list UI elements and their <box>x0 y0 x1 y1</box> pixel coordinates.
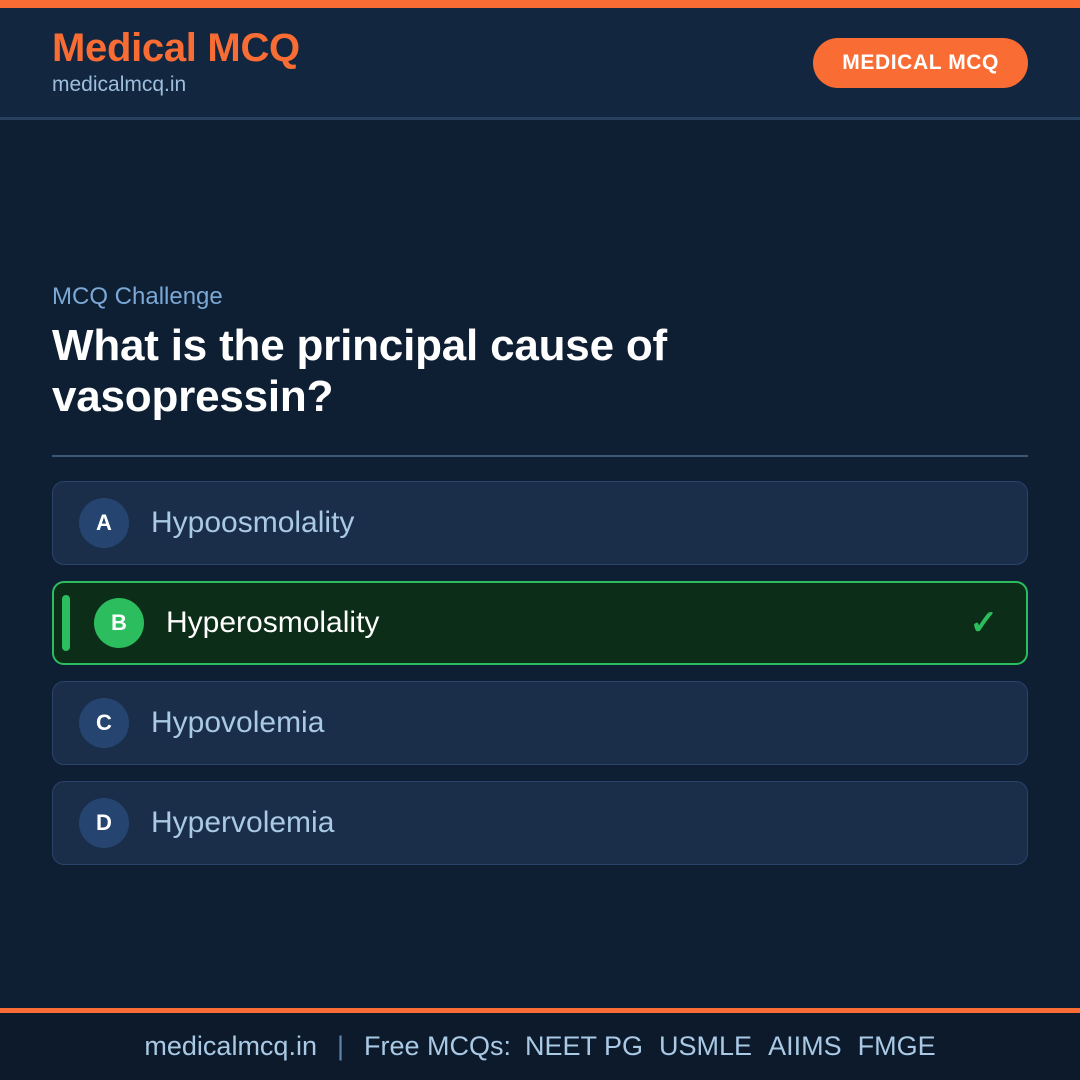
option-letter-badge-c: C <box>79 698 129 748</box>
option-row-a[interactable]: A Hypoosmolality <box>52 481 1028 565</box>
brand-title: Medical MCQ <box>52 27 300 70</box>
question-kicker: MCQ Challenge <box>52 283 1028 312</box>
header-badge: MEDICAL MCQ <box>813 38 1028 88</box>
main-content: MCQ Challenge What is the principal caus… <box>0 120 1080 1008</box>
header: Medical MCQ medicalmcq.in MEDICAL MCQ <box>0 8 1080 120</box>
option-letter-badge-b: B <box>94 598 144 648</box>
options-list: A Hypoosmolality B Hyperosmolality ✓ C H… <box>52 481 1028 865</box>
brand-subtitle: medicalmcq.in <box>52 72 300 98</box>
question-text: What is the principal cause of vasopress… <box>52 320 932 423</box>
brand: Medical MCQ medicalmcq.in <box>52 27 300 98</box>
footer-exam-aiims: AIIMS <box>768 1031 842 1062</box>
footer-site: medicalmcq.in <box>144 1031 317 1062</box>
option-letter-badge-a: A <box>79 498 129 548</box>
footer-text: medicalmcq.in | Free MCQs: NEET PG USMLE… <box>144 1031 935 1062</box>
option-label-a: Hypoosmolality <box>151 505 1003 541</box>
option-label-d: Hypervolemia <box>151 805 1003 841</box>
footer: medicalmcq.in | Free MCQs: NEET PG USMLE… <box>0 1008 1080 1080</box>
mcq-card: Medical MCQ medicalmcq.in MEDICAL MCQ MC… <box>0 0 1080 1080</box>
option-label-c: Hypovolemia <box>151 705 1003 741</box>
footer-exam-fmge: FMGE <box>858 1031 936 1062</box>
footer-exam-neetpg: NEET PG <box>525 1031 643 1062</box>
top-accent-bar <box>0 0 1080 8</box>
option-letter-badge-d: D <box>79 798 129 848</box>
option-row-d[interactable]: D Hypervolemia <box>52 781 1028 865</box>
correct-accent-bar <box>62 595 70 651</box>
option-label-b: Hyperosmolality <box>166 605 970 641</box>
checkmark-icon: ✓ <box>970 606 999 640</box>
option-row-c[interactable]: C Hypovolemia <box>52 681 1028 765</box>
footer-exam-list: NEET PG USMLE AIIMS FMGE <box>525 1031 936 1062</box>
option-row-b[interactable]: B Hyperosmolality ✓ <box>52 581 1028 665</box>
footer-separator: | <box>331 1031 350 1062</box>
top-spacer <box>52 120 1028 283</box>
question-divider <box>52 455 1028 457</box>
footer-prefix: Free MCQs: <box>364 1031 511 1062</box>
footer-exam-usmle: USMLE <box>659 1031 752 1062</box>
